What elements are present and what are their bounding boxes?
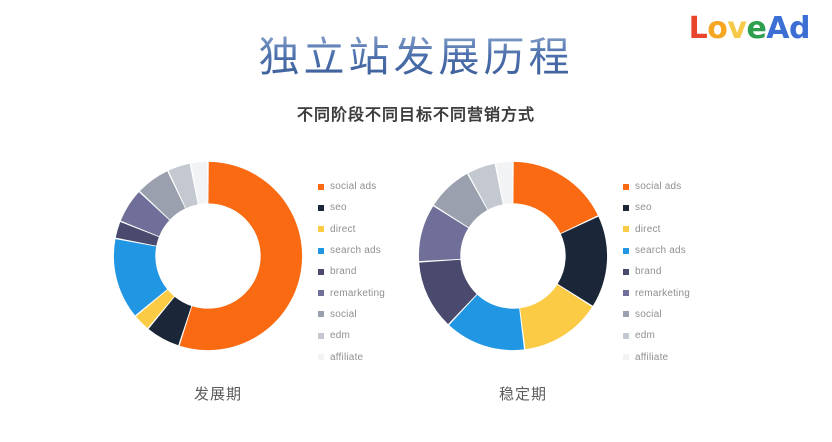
legend-swatch-icon xyxy=(623,269,629,275)
legend-item-label: seo xyxy=(330,202,347,213)
legend-swatch-icon xyxy=(318,269,324,275)
chart-caption-stable: 稳定期 xyxy=(423,383,623,404)
legend-swatch-icon xyxy=(318,248,324,254)
legend-item-edm[interactable]: edm xyxy=(623,325,690,346)
legend-item-seo[interactable]: seo xyxy=(318,197,385,218)
legend-item-label: affiliate xyxy=(635,352,668,363)
legend-item-brand[interactable]: brand xyxy=(623,261,690,282)
legend-item-direct[interactable]: direct xyxy=(318,219,385,240)
legend-swatch-icon xyxy=(318,311,324,317)
legend-swatch-icon xyxy=(318,290,324,296)
legend-item-affiliate[interactable]: affiliate xyxy=(623,346,690,367)
legend-swatch-icon xyxy=(318,354,324,360)
legend-item-label: social xyxy=(330,309,357,320)
legend-item-label: direct xyxy=(635,224,661,235)
donut-chart-development xyxy=(110,158,310,358)
legend-swatch-icon xyxy=(623,205,629,211)
legend-item-label: affiliate xyxy=(330,352,363,363)
legend-swatch-icon xyxy=(318,333,324,339)
chart-block-stable: 稳定期 social adsseodirectsearch adsbrandre… xyxy=(415,158,615,358)
legend-item-label: remarketing xyxy=(635,288,690,299)
legend-swatch-icon xyxy=(318,205,324,211)
donut-chart-stable xyxy=(415,158,615,358)
legend-item-affiliate[interactable]: affiliate xyxy=(318,346,385,367)
legend-swatch-icon xyxy=(623,290,629,296)
legend-item-label: brand xyxy=(635,266,662,277)
legend-item-edm[interactable]: edm xyxy=(318,325,385,346)
legend-swatch-icon xyxy=(318,226,324,232)
legend-item-direct[interactable]: direct xyxy=(623,219,690,240)
legend-item-search-ads[interactable]: search ads xyxy=(318,240,385,261)
legend-item-label: direct xyxy=(330,224,356,235)
page-subtitle: 不同阶段不同目标不同营销方式 xyxy=(0,101,832,125)
slide-canvas: LoveAd 独立站发展历程 不同阶段不同目标不同营销方式 发展期 social… xyxy=(0,0,832,442)
legend-item-label: social ads xyxy=(635,181,681,192)
legend-swatch-icon xyxy=(623,184,629,190)
legend-swatch-icon xyxy=(318,184,324,190)
legend-item-label: social xyxy=(635,309,662,320)
legend-item-label: edm xyxy=(330,330,350,341)
legend-item-remarketing[interactable]: remarketing xyxy=(623,282,690,303)
legend-swatch-icon xyxy=(623,248,629,254)
legend-item-label: search ads xyxy=(330,245,381,256)
legend-swatch-icon xyxy=(623,333,629,339)
page-title: 独立站发展历程 xyxy=(0,30,832,85)
legend-item-search-ads[interactable]: search ads xyxy=(623,240,690,261)
legend-item-label: remarketing xyxy=(330,288,385,299)
legend-swatch-icon xyxy=(623,311,629,317)
legend-item-label: social ads xyxy=(330,181,376,192)
legend-item-social[interactable]: social xyxy=(318,304,385,325)
legend-item-social[interactable]: social xyxy=(623,304,690,325)
legend-item-label: seo xyxy=(635,202,652,213)
chart-block-development: 发展期 social adsseodirectsearch adsbrandre… xyxy=(110,158,310,358)
legend-swatch-icon xyxy=(623,226,629,232)
donut-slice-social-ads xyxy=(513,162,597,233)
legend-item-remarketing[interactable]: remarketing xyxy=(318,282,385,303)
chart-caption-development: 发展期 xyxy=(118,383,318,404)
legend-item-brand[interactable]: brand xyxy=(318,261,385,282)
donut-svg-development xyxy=(110,158,306,354)
legend-stable: social adsseodirectsearch adsbrandremark… xyxy=(623,176,690,368)
legend-development: social adsseodirectsearch adsbrandremark… xyxy=(318,176,385,368)
legend-item-label: edm xyxy=(635,330,655,341)
legend-item-social-ads[interactable]: social ads xyxy=(318,176,385,197)
legend-item-label: brand xyxy=(330,266,357,277)
legend-swatch-icon xyxy=(623,354,629,360)
legend-item-seo[interactable]: seo xyxy=(623,197,690,218)
legend-item-label: search ads xyxy=(635,245,686,256)
legend-item-social-ads[interactable]: social ads xyxy=(623,176,690,197)
donut-svg-stable xyxy=(415,158,611,354)
